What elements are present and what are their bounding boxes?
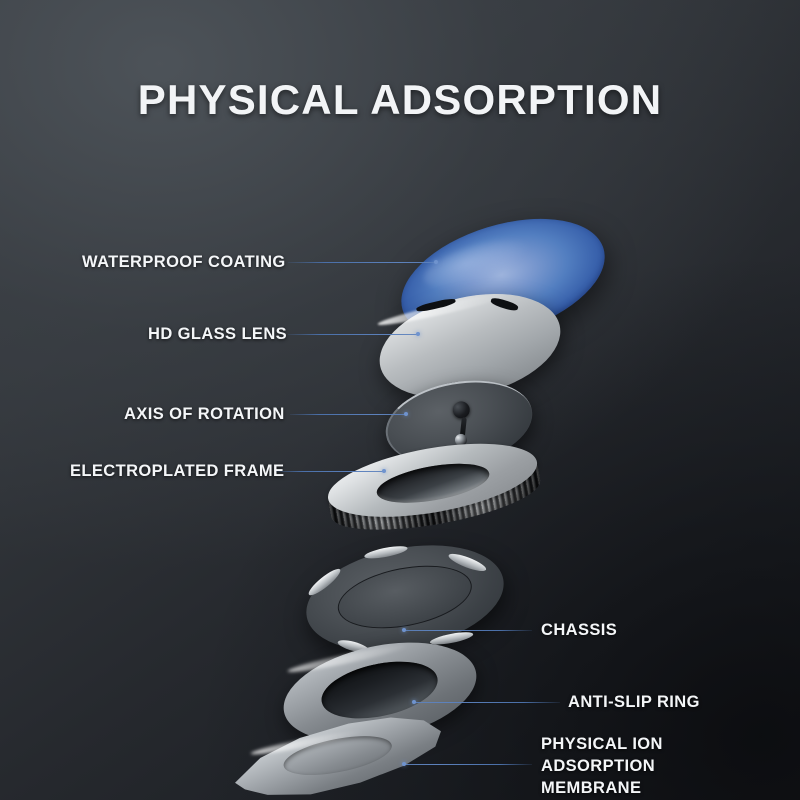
leader-line-electroplated-frame xyxy=(276,471,384,472)
leader-line-hd-glass-lens xyxy=(288,334,418,335)
page-title: PHYSICAL ADSORPTION xyxy=(0,76,800,124)
label-waterproof-coating: WATERPROOF COATING xyxy=(82,252,286,274)
diagram-canvas: PHYSICAL ADSORPTION WATERPROO xyxy=(0,0,800,800)
leader-dot-adsorption-membrane xyxy=(402,762,406,766)
chassis-rim-segment xyxy=(306,566,343,599)
label-adsorption-membrane: PHYSICAL ION ADSORPTION MEMBRANE xyxy=(541,734,663,799)
label-chassis: CHASSIS xyxy=(541,620,617,642)
label-adsorption-membrane-line-3: MEMBRANE xyxy=(541,778,663,800)
label-adsorption-membrane-line-2: ADSORPTION xyxy=(541,756,663,778)
leader-line-anti-slip-ring xyxy=(414,702,560,703)
chassis-inner-ring xyxy=(333,556,478,639)
label-hd-glass-lens: HD GLASS LENS xyxy=(148,324,287,346)
lens-notch xyxy=(490,296,519,312)
leader-line-adsorption-membrane xyxy=(404,764,532,765)
label-electroplated-frame: ELECTROPLATED FRAME xyxy=(70,461,284,483)
label-anti-slip-ring: ANTI-SLIP RING xyxy=(568,692,700,714)
leader-dot-hd-glass-lens xyxy=(416,332,420,336)
leader-dot-axis-of-rotation xyxy=(404,412,408,416)
label-adsorption-membrane-line-1: PHYSICAL ION xyxy=(541,734,663,756)
leader-line-axis-of-rotation xyxy=(290,414,406,415)
leader-dot-anti-slip-ring xyxy=(412,700,416,704)
leader-line-waterproof-coating xyxy=(288,262,436,263)
leader-dot-chassis xyxy=(402,628,406,632)
leader-dot-waterproof-coating xyxy=(434,260,438,264)
label-axis-of-rotation: AXIS OF ROTATION xyxy=(124,404,285,426)
leader-line-chassis xyxy=(404,630,532,631)
leader-dot-electroplated-frame xyxy=(382,469,386,473)
